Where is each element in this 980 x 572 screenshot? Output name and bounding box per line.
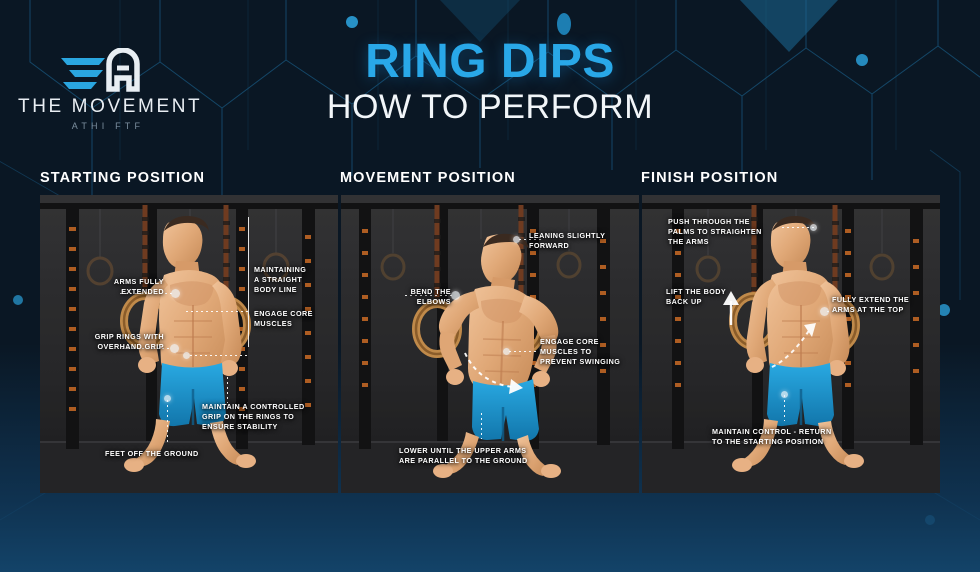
- annotation-arms-fully-extended: ARMS FULLY EXTENDED: [58, 277, 164, 297]
- annotation-fully-extend-arms-at-top: FULLY EXTEND THE ARMS AT THE TOP: [832, 295, 932, 315]
- marker-engage-core-swinging: [503, 348, 510, 355]
- panel-starting-position: ARMS FULLY EXTENDED GRIP RINGS WITH OVER…: [40, 195, 338, 493]
- leader-maintain-control: [784, 395, 785, 421]
- page-subtitle: HOW TO PERFORM: [0, 88, 980, 126]
- annotation-lift-the-body-back-up: LIFT THE BODY BACK UP: [666, 287, 756, 307]
- annotation-engage-core-prevent-swinging: ENGAGE CORE MUSCLES TO PREVENT SWINGING: [540, 337, 638, 368]
- marker-bend-elbows: [451, 291, 460, 300]
- page-title: RING DIPS: [0, 38, 980, 86]
- annotation-lower-until-parallel: LOWER UNTIL THE UPPER ARMS ARE PARALLEL …: [399, 446, 579, 466]
- marker-engage-core: [183, 352, 190, 359]
- marker-feet-off-ground: [164, 395, 171, 402]
- marker-grip-rings: [170, 344, 179, 353]
- leader-lower-parallel: [481, 413, 482, 439]
- annotation-maintaining-straight-body-line: MAINTAINING A STRAIGHT BODY LINE: [254, 265, 338, 296]
- annotation-maintain-control-return: MAINTAIN CONTROL - RETURN TO THE STARTIN…: [712, 427, 898, 447]
- annotation-grip-rings-overhand: GRIP RINGS WITH OVERHAND GRIP: [48, 332, 164, 352]
- panel-row: ARMS FULLY EXTENDED GRIP RINGS WITH OVER…: [40, 195, 940, 493]
- title-block: RING DIPS HOW TO PERFORM: [0, 38, 980, 126]
- section-headings: STARTING POSITION MOVEMENT POSITION FINI…: [0, 170, 980, 192]
- marker-arms-extended: [171, 289, 180, 298]
- annotation-push-through-palms: PUSH THROUGH THE PALMS TO STRAIGHTEN THE…: [668, 217, 776, 248]
- section-heading-starting-position: STARTING POSITION: [40, 170, 205, 186]
- marker-fully-extend-arms: [820, 307, 829, 316]
- panel-finish-position: PUSH THROUGH THE PALMS TO STRAIGHTEN THE…: [642, 195, 940, 493]
- annotation-feet-off-the-ground: FEET OFF THE GROUND: [105, 449, 235, 459]
- leader-feet-off-ground: [167, 400, 168, 444]
- leader-body-line: [186, 311, 248, 312]
- leader-controlled-grip: [227, 377, 228, 403]
- leader-engage-core-swinging: [509, 351, 539, 352]
- marker-leaning-forward: [513, 236, 520, 243]
- annotation-engage-core-muscles: ENGAGE CORE MUSCLES: [254, 309, 336, 329]
- annotation-bend-the-elbows: BEND THE ELBOWS: [347, 287, 451, 307]
- marker-push-palms: [810, 224, 817, 231]
- annotation-maintain-controlled-grip: MAINTAIN A CONTROLLED GRIP ON THE RINGS …: [202, 402, 338, 433]
- annotation-leaning-slightly-forward: LEANING SLIGHTLY FORWARD: [529, 231, 625, 251]
- header: THE MOVEMENT ATHI FTF RING DIPS HOW TO P…: [0, 0, 980, 150]
- leader-engage-core: [190, 355, 248, 356]
- marker-maintain-control: [781, 391, 788, 398]
- section-heading-finish-position: FINISH POSITION: [641, 170, 778, 186]
- movement-direction-arrow: [463, 349, 537, 399]
- body-line-rule: [248, 217, 249, 347]
- return-path-arrow: [764, 323, 826, 371]
- section-heading-movement-position: MOVEMENT POSITION: [340, 170, 516, 186]
- panel-movement-position: LEANING SLIGHTLY FORWARD BEND THE ELBOWS…: [341, 195, 639, 493]
